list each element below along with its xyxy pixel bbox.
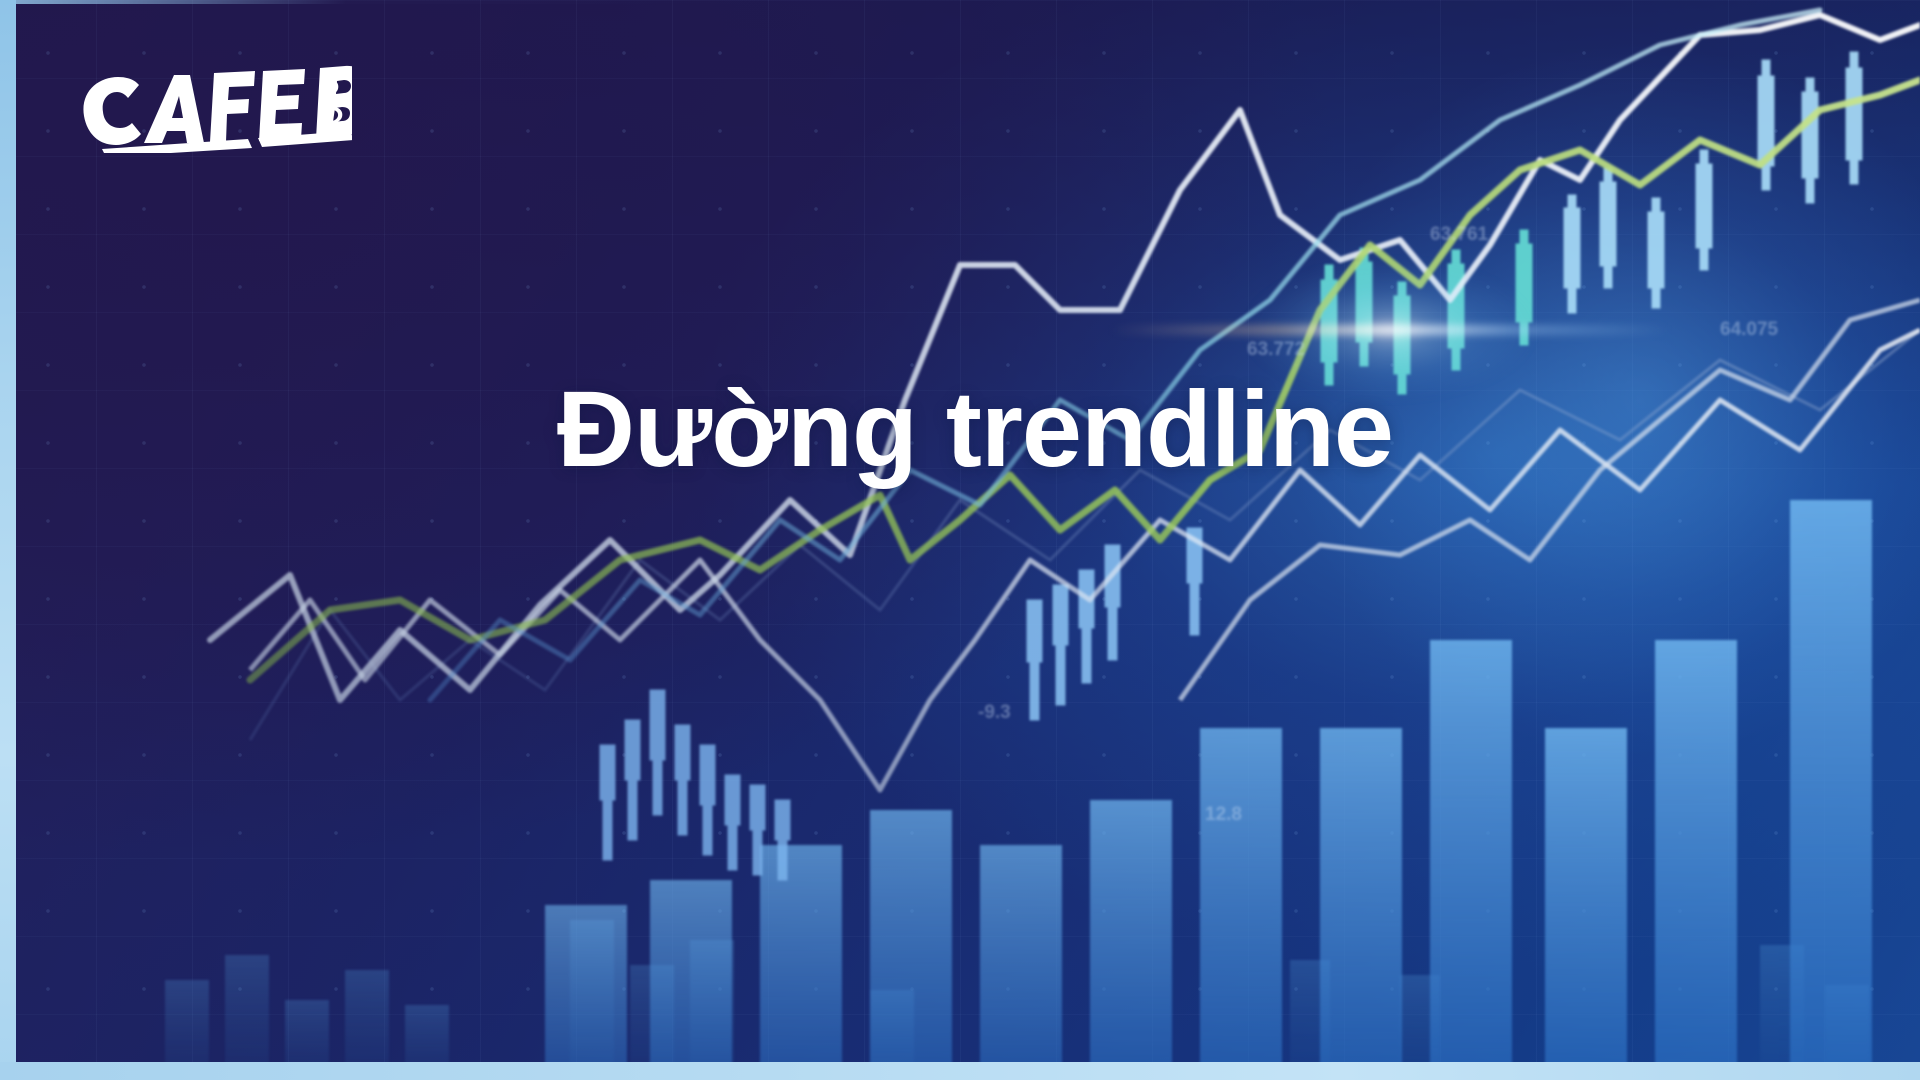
candlesticks-right bbox=[1321, 52, 1862, 394]
volume-bars-main bbox=[545, 500, 1872, 1080]
price-label-3: 64.075 bbox=[1720, 319, 1779, 340]
page-title: Đường trendline bbox=[0, 372, 1920, 485]
brand-logo[interactable] bbox=[62, 58, 352, 153]
price-label-2: 63.761 bbox=[1430, 224, 1489, 245]
price-label-1: 63.772 bbox=[1247, 339, 1305, 360]
top-edge-band bbox=[0, 0, 1920, 4]
background-chart-artwork: 63.772 63.761 64.075 12.8 -9.3 bbox=[0, 0, 1920, 1080]
candlesticks-left bbox=[600, 690, 790, 880]
left-edge-band bbox=[0, 0, 16, 1080]
bottom-edge-band bbox=[0, 1062, 1920, 1080]
banner-root: 63.772 63.761 64.075 12.8 -9.3 bbox=[0, 0, 1920, 1080]
price-label-5: -9.3 bbox=[978, 702, 1011, 723]
trendline-cyan bbox=[430, 10, 1820, 700]
price-label-4: 12.8 bbox=[1205, 804, 1242, 825]
cafebit-logo-icon bbox=[62, 58, 352, 153]
